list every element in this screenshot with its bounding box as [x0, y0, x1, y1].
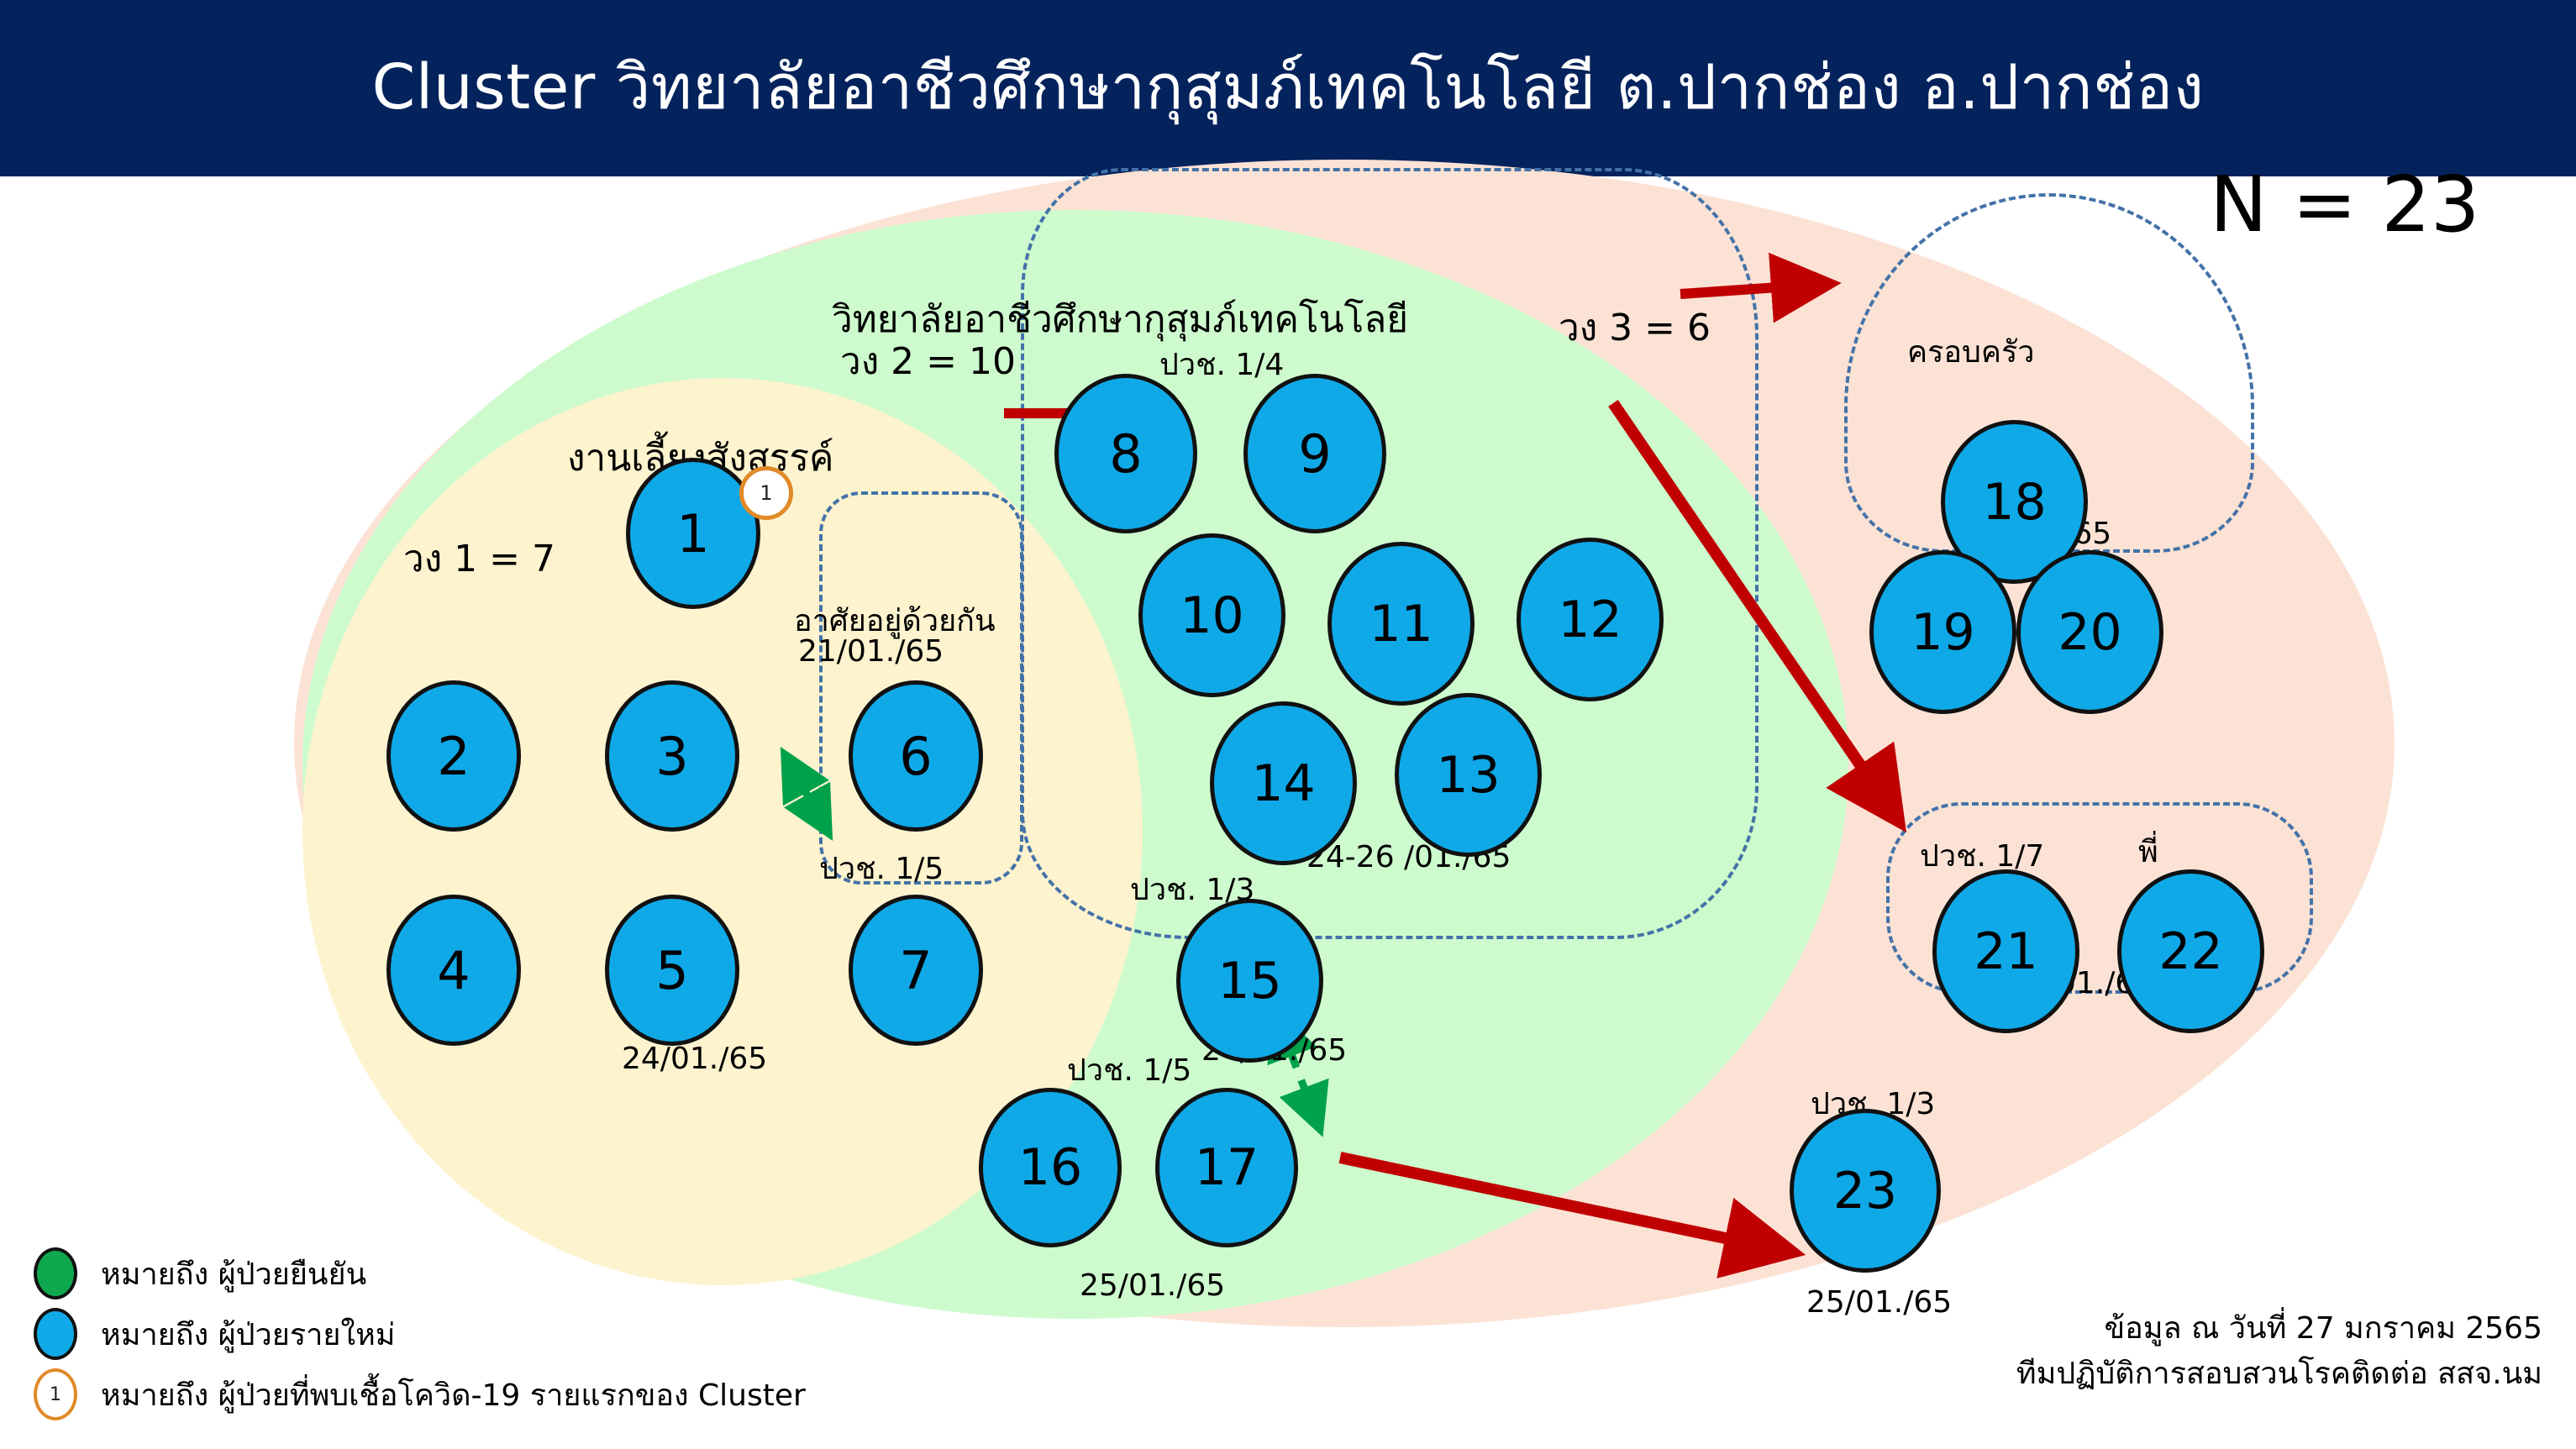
- legend-item-new-case-label: หมายถึง ผู้ป่วยรายใหม่: [101, 1310, 396, 1358]
- case-node-16[interactable]: 16: [979, 1088, 1122, 1247]
- case-node-14[interactable]: 14: [1210, 701, 1357, 865]
- case-node-8[interactable]: 8: [1054, 374, 1197, 533]
- first-case-badge-icon: 1: [739, 466, 793, 520]
- footer-team-name: ทีมปฏิบัติการสอบสวนโรคติดต่อ สสจ.นม: [2016, 1352, 2542, 1397]
- case-node-11[interactable]: 11: [1327, 542, 1475, 706]
- case-node-5[interactable]: 5: [605, 895, 739, 1046]
- case-node-1[interactable]: 1: [626, 458, 760, 609]
- legend-item-confirmed: หมายถึง ผู้ป่วยยืนยัน: [34, 1243, 806, 1304]
- ring3-count-label: วง 3 = 6: [1559, 298, 1711, 357]
- case-node-20[interactable]: 20: [2016, 550, 2163, 714]
- live-together-label: อาศัยอยู่ด้วยกัน: [794, 596, 996, 644]
- footer-data-date: ข้อมูล ณ วันที่ 27 มกราคม 2565: [2016, 1306, 2542, 1352]
- party-date-label: 24/01./65: [622, 1042, 767, 1076]
- legend-item-index-case: 1 หมายถึง ผู้ป่วยที่พบเชื้อโควิด-19 รายแ…: [34, 1364, 806, 1425]
- case-node-4[interactable]: 4: [386, 895, 521, 1046]
- case-node-17[interactable]: 17: [1155, 1088, 1298, 1247]
- ring1-count-label: วง 1 = 7: [403, 529, 555, 588]
- legend: หมายถึง ผู้ป่วยยืนยัน หมายถึง ผู้ป่วยราย…: [34, 1243, 806, 1425]
- pair67-class-label: ปวช. 1/5: [819, 844, 944, 892]
- cluster-diagram-canvas: N = 23 วง 2 = 10 วง 1 = 7 วง 3 = 6 วิทยา…: [0, 176, 2576, 1449]
- case-node-13[interactable]: 13: [1395, 693, 1542, 857]
- legend-item-index-case-label: หมายถึง ผู้ป่วยที่พบเชื้อโควิด-19 รายแรก…: [101, 1371, 806, 1419]
- legend-item-confirmed-label: หมายถึง ผู้ป่วยยืนยัน: [101, 1250, 366, 1298]
- page-title: Cluster วิทยาลัยอาชีวศึกษากุสุมภ์เทคโนโล…: [372, 54, 2205, 122]
- legend-item-new-case: หมายถึง ผู้ป่วยรายใหม่: [34, 1304, 806, 1364]
- case-node-3[interactable]: 3: [605, 680, 739, 832]
- case-node-21[interactable]: 21: [1932, 869, 2079, 1033]
- pair1617-class-label: ปวช. 1/5: [1067, 1046, 1191, 1094]
- case-node-7[interactable]: 7: [849, 895, 983, 1046]
- case23-date-label: 25/01./65: [1806, 1285, 1952, 1320]
- ring2-title-label: วิทยาลัยอาชีวศึกษากุสุมภ์เทคโนโลยี: [832, 290, 1408, 349]
- case-node-15[interactable]: 15: [1176, 899, 1323, 1063]
- footer: ข้อมูล ณ วันที่ 27 มกราคม 2565 ทีมปฏิบัต…: [2016, 1306, 2542, 1397]
- title-bar: Cluster วิทยาลัยอาชีวศึกษากุสุมภ์เทคโนโล…: [0, 0, 2576, 176]
- ring3-title-label: ครอบครัว: [1907, 328, 2035, 375]
- case-node-9[interactable]: 9: [1243, 374, 1386, 533]
- case-node-2[interactable]: 2: [386, 680, 521, 832]
- case-node-6[interactable]: 6: [849, 680, 983, 832]
- case-node-19[interactable]: 19: [1869, 550, 2016, 714]
- class-1-4-label: ปวช. 1/4: [1159, 340, 1284, 388]
- total-count-label: N = 23: [2210, 160, 2510, 249]
- case-node-10[interactable]: 10: [1138, 533, 1285, 697]
- blue-circle-icon: [34, 1308, 77, 1360]
- pair1617-date-label: 25/01./65: [1080, 1268, 1225, 1303]
- green-circle-icon: [34, 1247, 77, 1299]
- orange-ring-icon: 1: [34, 1368, 77, 1420]
- case22-relation-label: พี่: [2138, 827, 2158, 875]
- case-node-22[interactable]: 22: [2117, 869, 2264, 1033]
- case-node-23[interactable]: 23: [1790, 1109, 1941, 1273]
- case-node-12[interactable]: 12: [1517, 538, 1664, 701]
